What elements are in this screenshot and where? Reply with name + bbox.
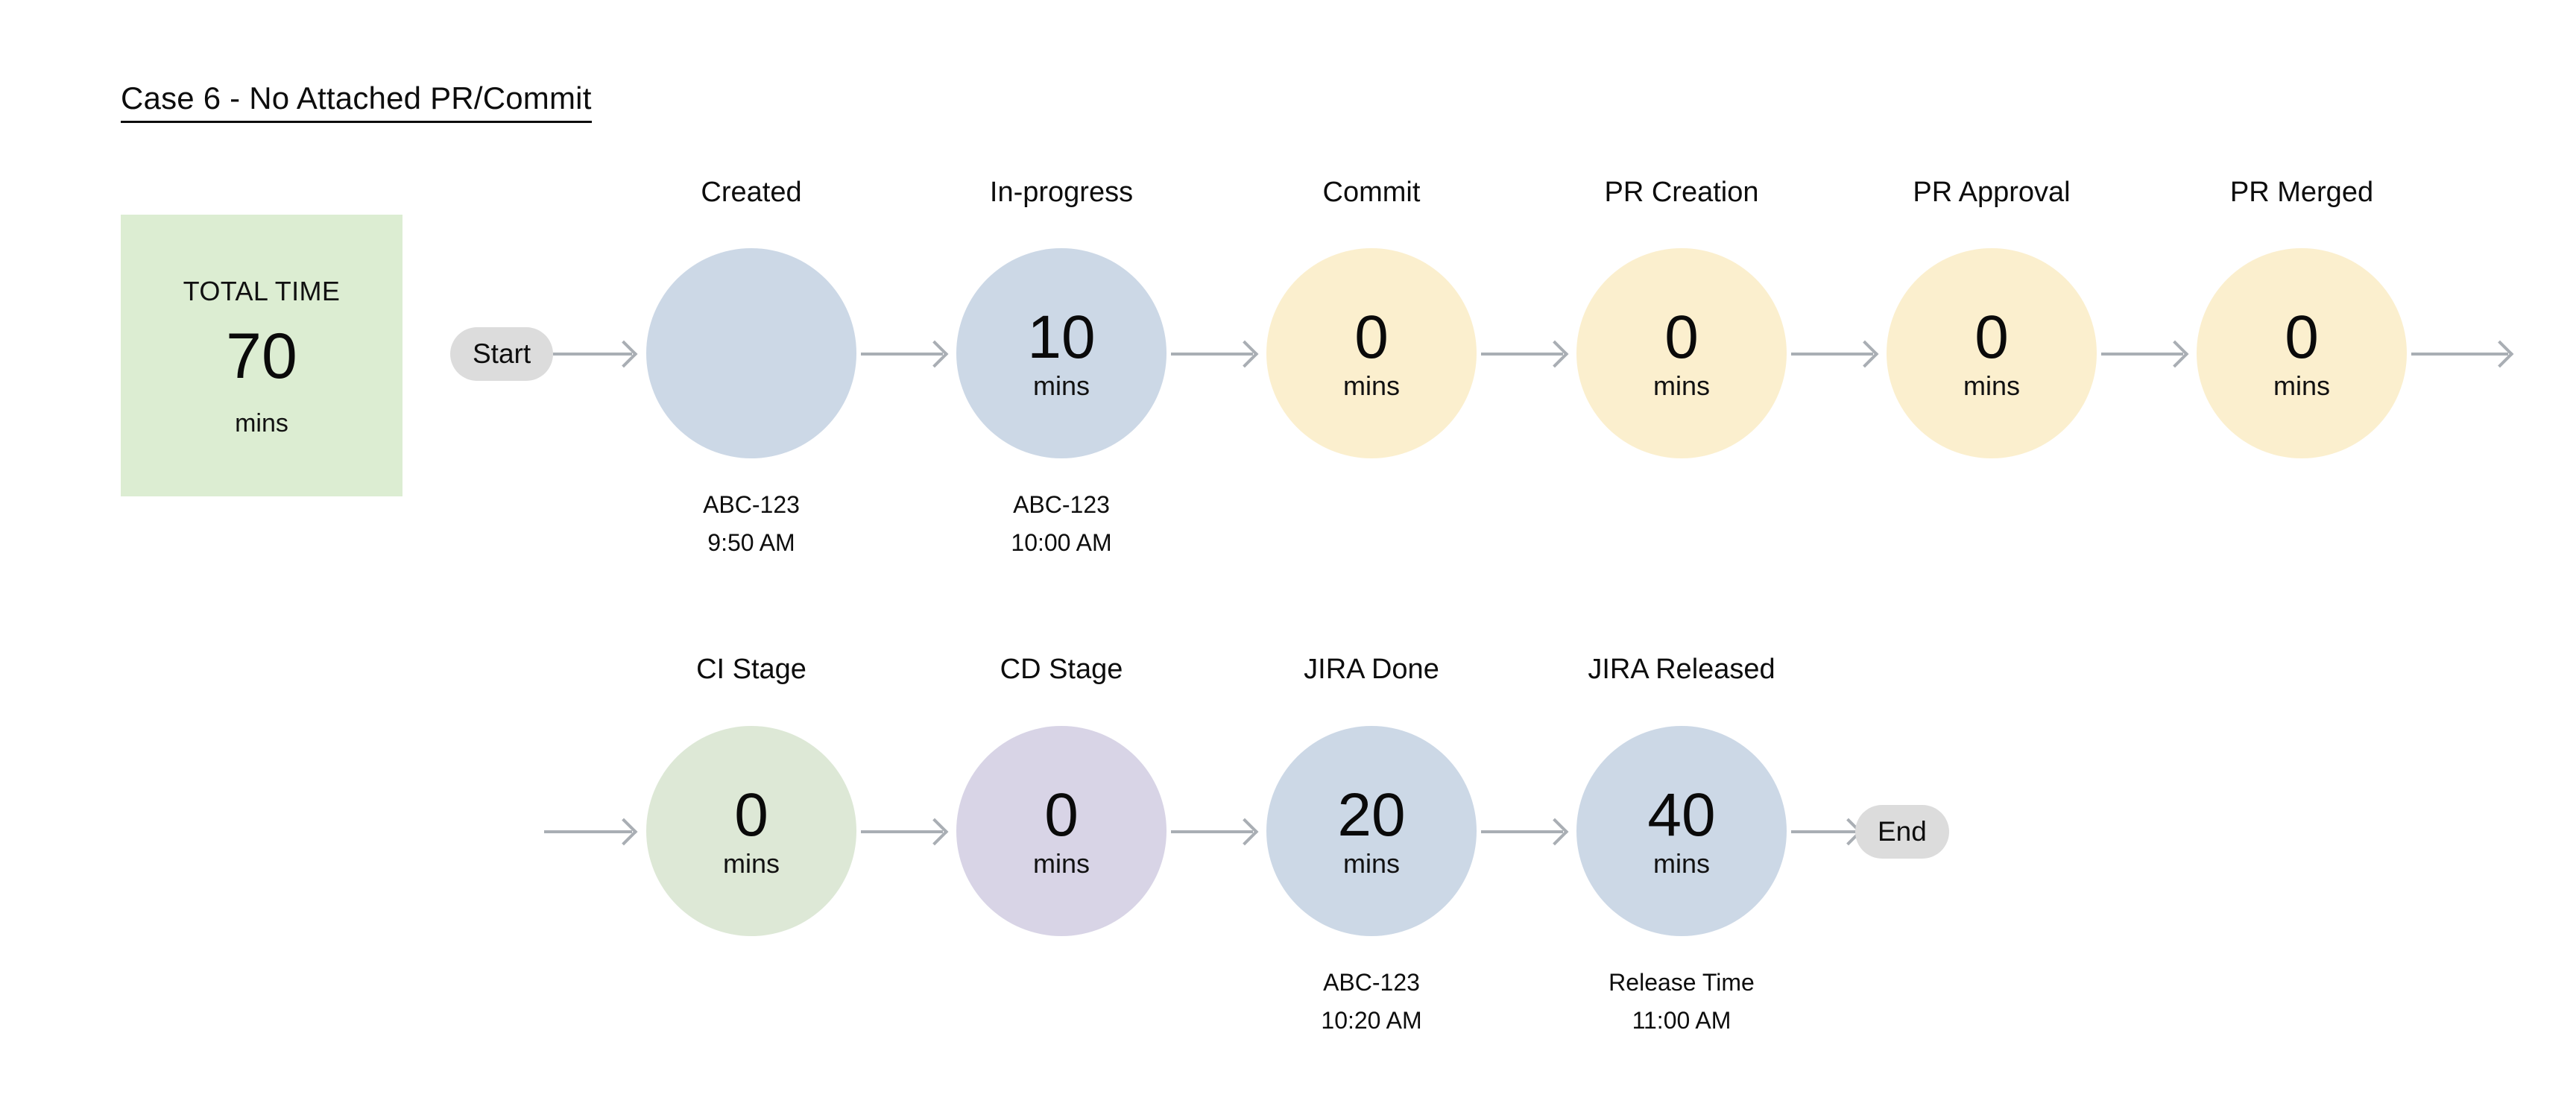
stage-value: 0 (1974, 307, 2009, 368)
connector-prapproval-prmerged (2101, 353, 2183, 356)
arrow-head-icon (921, 818, 949, 846)
connector-jirareleased-end (1791, 830, 1857, 833)
stage-title: JIRA Done (1263, 654, 1480, 686)
stage-value: 0 (2285, 307, 2319, 368)
stage-title: Commit (1263, 177, 1480, 209)
stage-unit: mins (1963, 373, 2020, 399)
stage-caption-line2: 10:00 AM (953, 524, 1169, 562)
stage-caption-line2: 11:00 AM (1573, 1002, 1790, 1040)
stage-caption-line2: 9:50 AM (643, 524, 859, 562)
connector-jiradone-jirareleased (1481, 830, 1563, 833)
connector-prcreation-prapproval (1791, 353, 1873, 356)
stage-circle[interactable]: 40 mins (1576, 726, 1787, 936)
stage-unit: mins (723, 850, 780, 877)
stage-caption-line2: 10:20 AM (1263, 1002, 1480, 1040)
stage-caption: ABC-123 10:00 AM (953, 486, 1169, 561)
connector-cistage-cdstage (861, 830, 943, 833)
stage-value: 10 (1027, 307, 1095, 368)
stage-unit: mins (1653, 373, 1710, 399)
stage-unit: mins (1033, 373, 1090, 399)
stage-title: PR Approval (1884, 177, 2100, 209)
stage-caption-line1: ABC-123 (1263, 964, 1480, 1002)
connector-cdstage-jiradone (1171, 830, 1253, 833)
stage-circle[interactable]: 20 mins (1266, 726, 1477, 936)
stage-unit: mins (2273, 373, 2330, 399)
connector-row2-wrap-in (544, 830, 632, 833)
stage-value: 0 (1044, 785, 1079, 846)
stage-unit: mins (1343, 850, 1400, 877)
stage-caption-line1: Release Time (1573, 964, 1790, 1002)
stage-circle[interactable]: 0 mins (2197, 248, 2407, 458)
stage-title: PR Merged (2194, 177, 2410, 209)
connector-created-inprogress (861, 353, 943, 356)
arrow-head-icon (921, 341, 949, 368)
arrow-head-icon (2487, 341, 2514, 368)
arrow-head-icon (2162, 341, 2189, 368)
total-time-unit: mins (235, 409, 288, 438)
stage-unit: mins (1653, 850, 1710, 877)
stage-circle[interactable]: 0 mins (1576, 248, 1787, 458)
stage-value: 0 (1354, 307, 1389, 368)
stage-unit: mins (1033, 850, 1090, 877)
total-time-value: 70 (226, 326, 297, 388)
stage-caption: ABC-123 10:20 AM (1263, 964, 1480, 1039)
stage-circle[interactable]: 0 mins (1887, 248, 2097, 458)
connector-row1-wrap-out (2411, 353, 2508, 356)
arrow-head-icon (1851, 341, 1879, 368)
stage-circle[interactable]: mins (646, 248, 856, 458)
connector-commit-prcreation (1481, 353, 1563, 356)
arrow-head-icon (1541, 341, 1569, 368)
stage-circle[interactable]: 0 mins (646, 726, 856, 936)
stage-circle[interactable]: 10 mins (956, 248, 1167, 458)
arrow-head-icon (610, 818, 638, 846)
stage-unit: mins (1343, 373, 1400, 399)
stage-title: CD Stage (953, 654, 1169, 686)
arrow-head-icon (1231, 341, 1259, 368)
stage-title: In-progress (953, 177, 1169, 209)
end-pill[interactable]: End (1855, 805, 1949, 859)
stage-value: 40 (1647, 785, 1715, 846)
stage-title: Created (643, 177, 859, 209)
stage-title: JIRA Released (1573, 654, 1790, 686)
stage-caption-line1: ABC-123 (953, 486, 1169, 524)
stage-title: PR Creation (1573, 177, 1790, 209)
total-time-card: TOTAL TIME 70 mins (121, 215, 402, 496)
arrow-head-icon (1231, 818, 1259, 846)
stage-value: 20 (1337, 785, 1405, 846)
page-title: Case 6 - No Attached PR/Commit (121, 80, 592, 123)
stage-circle[interactable]: 0 mins (956, 726, 1167, 936)
start-pill[interactable]: Start (450, 327, 553, 381)
stage-caption: Release Time 11:00 AM (1573, 964, 1790, 1039)
stage-caption-line1: ABC-123 (643, 486, 859, 524)
stage-value: 0 (1664, 307, 1699, 368)
stage-caption: ABC-123 9:50 AM (643, 486, 859, 561)
connector-start-created (553, 353, 632, 356)
total-time-label: TOTAL TIME (183, 276, 341, 307)
stage-value: 0 (734, 785, 768, 846)
diagram-canvas: Case 6 - No Attached PR/Commit TOTAL TIM… (0, 0, 2576, 1115)
stage-title: CI Stage (643, 654, 859, 686)
connector-inprogress-commit (1171, 353, 1253, 356)
stage-circle[interactable]: 0 mins (1266, 248, 1477, 458)
arrow-head-icon (610, 341, 638, 368)
arrow-head-icon (1541, 818, 1569, 846)
